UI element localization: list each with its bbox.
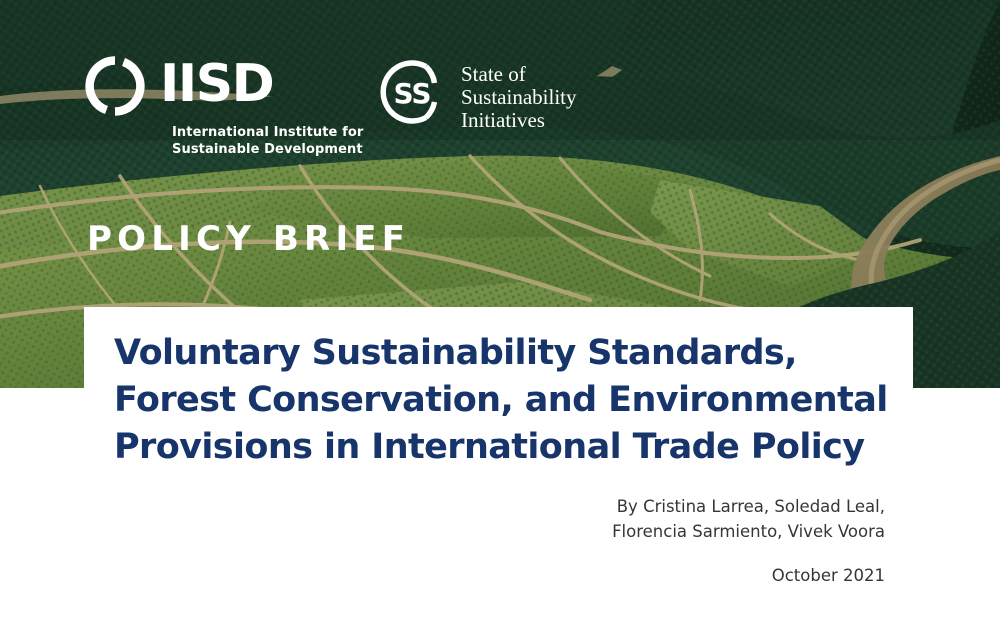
logo-row: IISD International Institute for Sustain… xyxy=(84,55,577,158)
page-title: Voluntary Sustainability Standards, Fore… xyxy=(114,330,914,471)
credits-block: By Cristina Larrea, Soledad Leal, Floren… xyxy=(612,494,885,588)
iisd-logo: IISD International Institute for Sustain… xyxy=(84,55,334,158)
authors-line-1: By Cristina Larrea, Soledad Leal, xyxy=(612,494,885,519)
authors-line-2: Florencia Sarmiento, Vivek Voora xyxy=(612,519,885,544)
iisd-tagline-line2: Sustainable Development xyxy=(172,141,334,158)
ssi-line2: Sustainability xyxy=(461,86,577,109)
iisd-ring-icon xyxy=(84,55,146,117)
ssi-line1: State of xyxy=(461,63,577,86)
iisd-wordmark: IISD xyxy=(160,58,273,110)
iisd-tagline: International Institute for Sustainable … xyxy=(172,124,334,158)
ssi-logo: SS State of Sustainability Initiatives xyxy=(376,56,577,132)
iisd-tagline-line1: International Institute for xyxy=(172,124,334,141)
ssi-circle-icon: SS xyxy=(376,56,448,128)
ssi-wordmark: State of Sustainability Initiatives xyxy=(461,63,577,132)
ssi-line3: Initiatives xyxy=(461,109,577,132)
title-line-2: Forest Conservation, and Environmental xyxy=(114,377,914,424)
svg-text:SS: SS xyxy=(393,77,430,110)
eyebrow-policy-brief: POLICY BRIEF xyxy=(87,219,410,259)
title-line-3: Provisions in International Trade Policy xyxy=(114,424,914,471)
title-line-1: Voluntary Sustainability Standards, xyxy=(114,330,914,377)
publication-date: October 2021 xyxy=(612,563,885,588)
document-cover: IISD International Institute for Sustain… xyxy=(0,0,1000,620)
